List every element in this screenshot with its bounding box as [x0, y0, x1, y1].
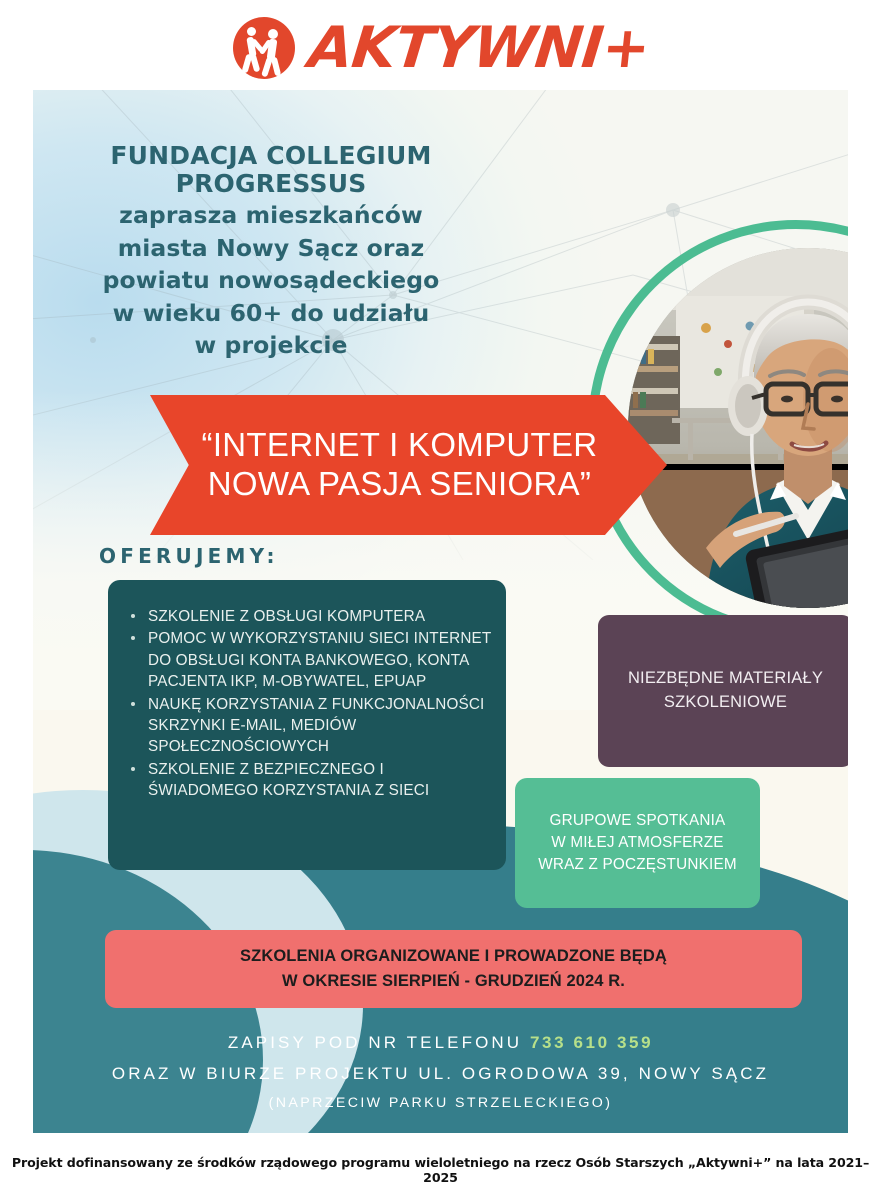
project-title-text: “INTERNET I KOMPUTER NOWA PASJA SENIORA” [186, 426, 632, 504]
two-runners-circle-icon [233, 17, 295, 79]
meetings-line2: W MIŁEJ ATMOSFERZE [538, 832, 737, 854]
schedule-box: SZKOLENIA ORGANIZOWANE I PROWADZONE BĘDĄ… [105, 930, 802, 1008]
schedule-line2: W OKRESIE SIERPIEŃ - GRUDZIEŃ 2024 R. [240, 969, 667, 994]
signup-line: ZAPISY POD NR TELEFONU 733 610 359 [33, 1033, 848, 1053]
list-item: SZKOLENIE Z OBSŁUGI KOMPUTERA [148, 606, 492, 627]
phone-number[interactable]: 733 610 359 [530, 1033, 653, 1052]
meetings-line1: GRUPOWE SPOTKANIA [538, 810, 737, 832]
org-name-line2: PROGRESSUS [91, 170, 451, 198]
organisation-heading: FUNDACJA COLLEGIUM PROGRESSUS zaprasza m… [91, 142, 451, 361]
invite-line1: zaprasza mieszkańców [91, 201, 451, 231]
meetings-line3: WRAZ Z POCZĘSTUNKIEM [538, 854, 737, 876]
funding-footer: Projekt dofinansowany ze środków rządowe… [0, 1155, 881, 1185]
senior-man-with-headphones-using-tablet-photo [628, 248, 848, 608]
list-item: POMOC W WYKORZYSTANIU SIECI INTERNET DO … [148, 628, 492, 692]
invite-line2: miasta Nowy Sącz oraz [91, 234, 451, 264]
invite-line4: w wieku 60+ do udziału [91, 299, 451, 329]
offer-heading: OFERUJEMY: [99, 544, 279, 568]
project-title-line2: NOWA PASJA SENIORA” [202, 465, 598, 504]
office-address: ORAZ W BIURZE PROJEKTU UL. OGRODOWA 39, … [33, 1064, 848, 1084]
materials-box-text: NIEZBĘDNE MATERIAŁY SZKOLENIOWE [628, 667, 823, 715]
materials-box: NIEZBĘDNE MATERIAŁY SZKOLENIOWE [598, 615, 848, 767]
signup-prefix: ZAPISY POD NR TELEFONU [228, 1033, 522, 1052]
schedule-box-text: SZKOLENIA ORGANIZOWANE I PROWADZONE BĘDĄ… [240, 944, 667, 994]
offer-list-box: SZKOLENIE Z OBSŁUGI KOMPUTERA POMOC W WY… [108, 580, 506, 870]
materials-line1: NIEZBĘDNE MATERIAŁY [628, 667, 823, 691]
poster: AKTYWNI+ [0, 0, 881, 1200]
org-name-line1: FUNDACJA COLLEGIUM [91, 142, 451, 170]
materials-line2: SZKOLENIOWE [628, 691, 823, 715]
offer-list: SZKOLENIE Z OBSŁUGI KOMPUTERA POMOC W WY… [108, 580, 506, 802]
invite-line3: powiatu nowosądeckiego [91, 266, 451, 296]
brand-logo: AKTYWNI+ [0, 8, 881, 88]
brand-wordmark: AKTYWNI+ [306, 20, 652, 77]
invite-line5: w projekcie [91, 331, 451, 361]
meetings-box: GRUPOWE SPOTKANIA W MIŁEJ ATMOSFERZE WRA… [515, 778, 760, 908]
project-title-line1: “INTERNET I KOMPUTER [202, 426, 598, 465]
contact-block: ZAPISY POD NR TELEFONU 733 610 359 ORAZ … [33, 1033, 848, 1111]
poster-body: FUNDACJA COLLEGIUM PROGRESSUS zaprasza m… [33, 90, 848, 1133]
list-item: NAUKĘ KORZYSTANIA Z FUNKCJONALNOŚCI SKRZ… [148, 694, 492, 758]
list-item: SZKOLENIE Z BEZPIECZNEGO I ŚWIADOMEGO KO… [148, 759, 492, 802]
schedule-line1: SZKOLENIA ORGANIZOWANE I PROWADZONE BĘDĄ [240, 944, 667, 969]
meetings-box-text: GRUPOWE SPOTKANIA W MIŁEJ ATMOSFERZE WRA… [538, 810, 737, 877]
location-note: (NAPRZECIW PARKU STRZELECKIEGO) [33, 1095, 848, 1111]
project-title-ribbon: “INTERNET I KOMPUTER NOWA PASJA SENIORA” [150, 395, 667, 535]
